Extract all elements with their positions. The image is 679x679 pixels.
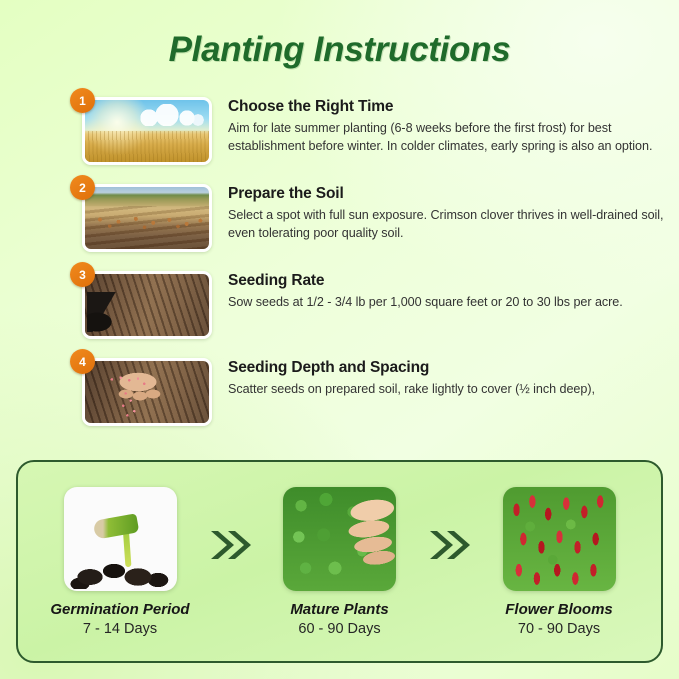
- step-number-badge: 1: [70, 88, 95, 113]
- step-number-badge: 3: [70, 262, 95, 287]
- step-title: Prepare the Soil: [228, 185, 666, 203]
- crimson-clover-blooms-photo: [503, 487, 616, 591]
- timeline-stage: Mature Plants 60 - 90 Days: [264, 487, 416, 637]
- step-description: Select a spot with full sun exposure. Cr…: [228, 207, 666, 243]
- timeline-stage-value: 60 - 90 Days: [264, 621, 416, 637]
- seed-icon: [107, 375, 169, 419]
- step-description: Aim for late summer planting (6-8 weeks …: [228, 120, 666, 156]
- cloud-icon: [135, 104, 205, 126]
- hay-bale-icon: [85, 216, 209, 235]
- step-item: 1 Choose the Right Time Aim for late sum…: [70, 88, 666, 165]
- growth-timeline-card: Germination Period 7 - 14 Days Mature Pl…: [16, 460, 663, 663]
- boot-icon: [87, 292, 127, 332]
- step-title: Seeding Depth and Spacing: [228, 359, 666, 377]
- clover-foliage-hand-photo: [283, 487, 396, 591]
- step-item: 4 Seeding Depth and Spacing Scatter seed…: [70, 349, 666, 426]
- planting-instructions-infographic: Planting Instructions 1 Choose the Right…: [0, 0, 679, 679]
- step-item: 3 Seeding Rate Sow seeds at 1/2 - 3/4 lb…: [70, 262, 666, 339]
- tilled-soil-boot-photo: [82, 271, 212, 339]
- step-text: Choose the Right Time Aim for late summe…: [210, 88, 666, 156]
- timeline-stage-label: Mature Plants: [264, 601, 416, 618]
- step-item: 2 Prepare the Soil Select a spot with fu…: [70, 175, 666, 252]
- harvested-field-hay-bales-photo: [82, 184, 212, 252]
- step-text: Seeding Rate Sow seeds at 1/2 - 3/4 lb p…: [210, 262, 666, 312]
- double-chevron-right-icon: [207, 525, 253, 565]
- timeline-stage-label: Germination Period: [44, 601, 196, 618]
- sprouting-seed-photo: [64, 487, 177, 591]
- step-text: Prepare the Soil Select a spot with full…: [210, 175, 666, 243]
- timeline-stage-value: 7 - 14 Days: [44, 621, 196, 637]
- step-thumbnail-wrap: 2: [70, 175, 210, 252]
- timeline-stage: Germination Period 7 - 14 Days: [44, 487, 196, 637]
- step-thumbnail-wrap: 4: [70, 349, 210, 426]
- steps-list: 1 Choose the Right Time Aim for late sum…: [70, 88, 666, 436]
- timeline-stage-label: Flower Blooms: [483, 601, 635, 618]
- step-title: Seeding Rate: [228, 272, 666, 290]
- step-description: Scatter seeds on prepared soil, rake lig…: [228, 381, 666, 399]
- page-title: Planting Instructions: [0, 30, 679, 70]
- timeline-stage: Flower Blooms 70 - 90 Days: [483, 487, 635, 637]
- step-text: Seeding Depth and Spacing Scatter seeds …: [210, 349, 666, 399]
- wheat-field-sunrise-photo: [82, 97, 212, 165]
- step-number-badge: 2: [70, 175, 95, 200]
- timeline-stage-value: 70 - 90 Days: [483, 621, 635, 637]
- step-thumbnail-wrap: 3: [70, 262, 210, 339]
- double-chevron-right-icon: [426, 525, 472, 565]
- step-description: Sow seeds at 1/2 - 3/4 lb per 1,000 squa…: [228, 294, 666, 312]
- step-thumbnail-wrap: 1: [70, 88, 210, 165]
- step-title: Choose the Right Time: [228, 98, 666, 116]
- step-number-badge: 4: [70, 349, 95, 374]
- hand-scattering-seeds-photo: [82, 358, 212, 426]
